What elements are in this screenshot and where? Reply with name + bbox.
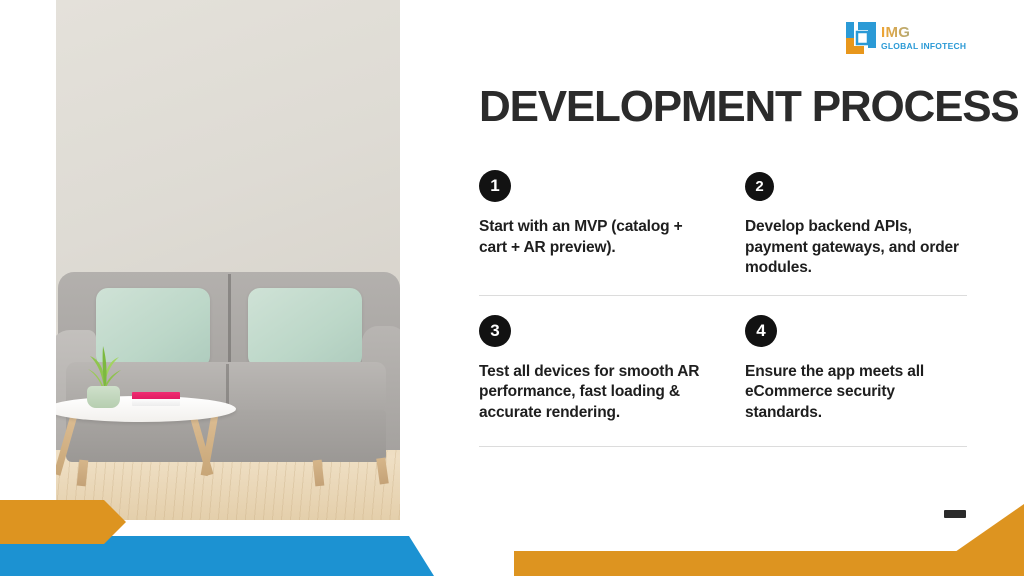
step-text-4: Ensure the app meets all eCommerce secur… — [745, 362, 967, 424]
living-room-photo — [56, 0, 400, 520]
sofa-backrest-seam — [228, 274, 231, 374]
steps-row-2: 3 Test all devices for smooth AR perform… — [479, 296, 967, 446]
step-card-1: 1 Start with an MVP (catalog + cart + AR… — [479, 170, 723, 279]
brand-logo[interactable]: IMG GLOBAL INFOTECH — [846, 22, 966, 54]
page-indicator-dash — [944, 510, 966, 518]
white-book — [132, 399, 180, 406]
logo-mark-icon — [846, 22, 876, 54]
steps-divider-lower — [479, 446, 967, 447]
step-card-4: 4 Ensure the app meets all eCommerce sec… — [723, 315, 967, 424]
step-number-badge-4: 4 — [745, 315, 777, 347]
step-card-2: 2 Develop backend APIs, payment gateways… — [723, 170, 967, 279]
potted-plant-leaves — [86, 340, 122, 388]
cushion-pillow-right — [248, 288, 362, 368]
decor-orange-arrow-bottom-left — [0, 500, 126, 544]
step-card-3: 3 Test all devices for smooth AR perform… — [479, 315, 723, 424]
step-text-2: Develop backend APIs, payment gateways, … — [745, 217, 967, 279]
step-number-badge-1: 1 — [479, 170, 511, 202]
decor-orange-bar-bottom-right — [514, 551, 1024, 576]
logo-tagline-text: GLOBAL INFOTECH — [881, 42, 966, 51]
step-number-badge-2: 2 — [745, 172, 774, 201]
steps-row-1: 1 Start with an MVP (catalog + cart + AR… — [479, 170, 967, 295]
logo-brand-text: IMG — [881, 25, 966, 40]
page-title: DEVELOPMENT PROCESS — [479, 82, 1019, 132]
process-steps-grid: 1 Start with an MVP (catalog + cart + AR… — [479, 170, 967, 447]
step-text-1: Start with an MVP (catalog + cart + AR p… — [479, 217, 701, 258]
step-number-badge-3: 3 — [479, 315, 511, 347]
slide-root: IMG GLOBAL INFOTECH DEVELOPMENT PROCESS … — [0, 0, 1024, 576]
logo-wordmark: IMG GLOBAL INFOTECH — [881, 25, 966, 51]
plant-pot — [87, 386, 120, 408]
step-text-3: Test all devices for smooth AR performan… — [479, 362, 701, 424]
